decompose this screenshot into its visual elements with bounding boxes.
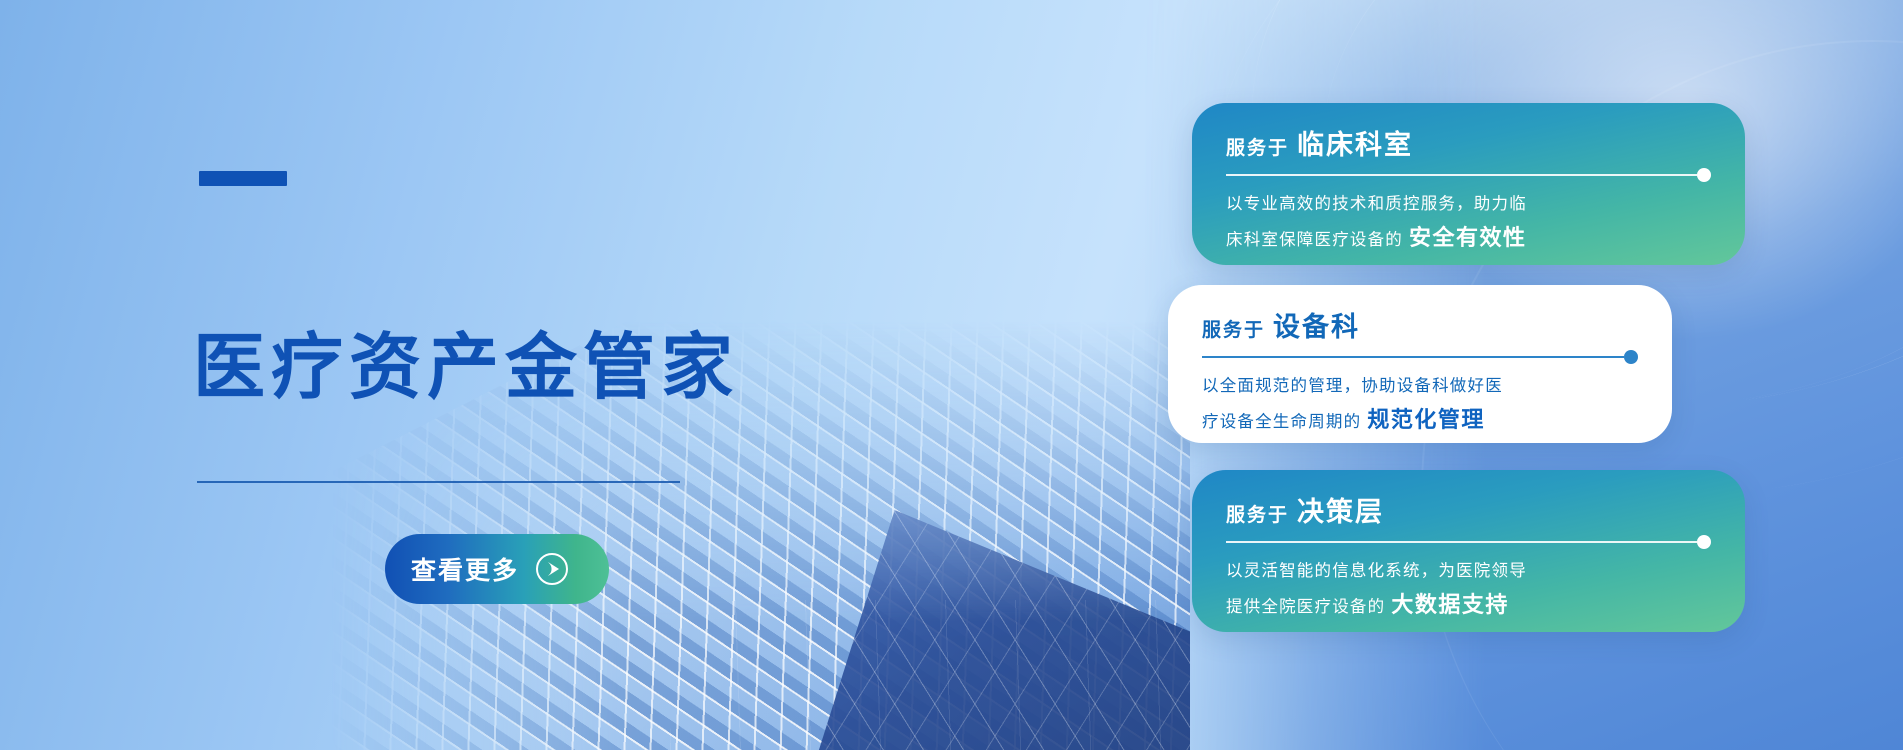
card-highlight: 规范化管理 [1367,407,1485,432]
card-lead-label: 服务于 [1202,320,1265,341]
card-body: 以全面规范的管理，协助设备科做好医 疗设备全生命周期的规范化管理 [1202,372,1638,438]
card-target-label: 设备科 [1273,312,1360,342]
card-divider-line [1226,174,1697,176]
card-body-line-1: 以全面规范的管理，协助设备科做好医 [1202,372,1638,400]
card-body-line-2: 疗设备全生命周期的 [1202,413,1361,431]
card-body-line-2: 提供全院医疗设备的 [1226,598,1385,616]
card-divider-dot-icon [1624,350,1638,364]
hero-banner: 医疗资产金管家 查看更多 服务于临床科室 以专业高效的技术和质控服务，助力临 [0,0,1903,750]
card-divider-line [1202,356,1624,358]
service-cards: 服务于临床科室 以专业高效的技术和质控服务，助力临 床科室保障医疗设备的安全有效… [0,0,1903,750]
card-divider [1226,541,1711,543]
card-body-line-2: 床科室保障医疗设备的 [1226,231,1403,249]
card-divider-dot-icon [1697,535,1711,549]
card-target-label: 决策层 [1297,497,1384,527]
card-title: 服务于决策层 [1226,496,1711,528]
card-divider-line [1226,541,1697,543]
card-body: 以灵活智能的信息化系统，为医院领导 提供全院医疗设备的大数据支持 [1226,557,1711,623]
card-highlight: 大数据支持 [1391,592,1509,617]
card-title: 服务于临床科室 [1226,129,1711,161]
card-divider [1226,174,1711,176]
card-body-line-2-wrap: 疗设备全生命周期的规范化管理 [1202,401,1638,439]
card-highlight: 安全有效性 [1409,225,1527,250]
card-body-line-2-wrap: 床科室保障医疗设备的安全有效性 [1226,219,1711,257]
service-card-clinical[interactable]: 服务于临床科室 以专业高效的技术和质控服务，助力临 床科室保障医疗设备的安全有效… [1192,103,1745,265]
service-card-equipment[interactable]: 服务于设备科 以全面规范的管理，协助设备科做好医 疗设备全生命周期的规范化管理 [1168,285,1672,443]
card-divider [1202,356,1638,358]
card-lead-label: 服务于 [1226,505,1289,526]
card-lead-label: 服务于 [1226,138,1289,159]
card-title: 服务于设备科 [1202,311,1638,343]
card-body: 以专业高效的技术和质控服务，助力临 床科室保障医疗设备的安全有效性 [1226,190,1711,256]
service-card-decision[interactable]: 服务于决策层 以灵活智能的信息化系统，为医院领导 提供全院医疗设备的大数据支持 [1192,470,1745,632]
card-divider-dot-icon [1697,168,1711,182]
card-body-line-1: 以专业高效的技术和质控服务，助力临 [1226,190,1711,218]
card-target-label: 临床科室 [1297,130,1413,160]
card-body-line-1: 以灵活智能的信息化系统，为医院领导 [1226,557,1711,585]
card-body-line-2-wrap: 提供全院医疗设备的大数据支持 [1226,586,1711,624]
